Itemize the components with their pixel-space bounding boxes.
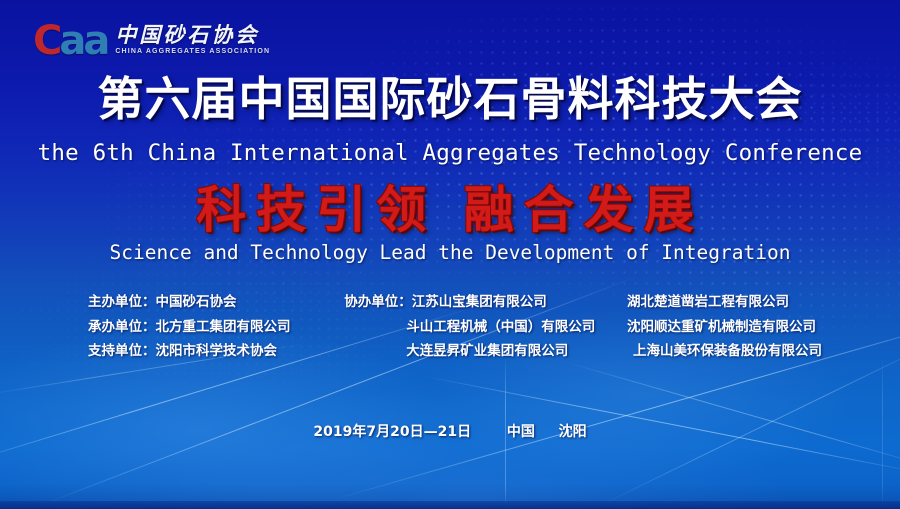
event-country: 中国 — [507, 424, 535, 440]
conference-title-chinese: 第六届中国国际砂石骨料科技大会 — [0, 73, 900, 126]
organizer-line: 主办单位：中国砂石协会 — [88, 295, 291, 311]
event-date: 2019年7月20日—21日 — [313, 424, 471, 440]
organizer-line: 上海山美环保装备股份有限公司 — [627, 344, 822, 360]
organizer-line: 湖北楚道凿岩工程有限公司 — [627, 295, 822, 311]
slogan-chinese: 科技引领 融合发展 — [0, 182, 900, 237]
organizer-line: 斗山工程机械（中国）有限公司 — [344, 320, 595, 336]
organizer-line: 承办单位：北方重工集团有限公司 — [88, 320, 291, 336]
organizer-block: 主办单位：中国砂石协会 承办单位：北方重工集团有限公司 支持单位：沈阳市科学技术… — [88, 295, 828, 360]
logo-english-name: CHINA AGGREGATES ASSOCIATION — [115, 48, 270, 55]
caa-logo-wordmark: 中国砂石协会 CHINA AGGREGATES ASSOCIATION — [115, 25, 270, 57]
caa-logo-mark: C aa — [33, 21, 107, 61]
conference-title-english: the 6th China International Aggregates T… — [0, 140, 900, 166]
bottom-band — [0, 501, 900, 509]
organizer-line: 大连昱昇矿业集团有限公司 — [344, 344, 595, 360]
organizer-column-middle: 协办单位：江苏山宝集团有限公司 斗山工程机械（中国）有限公司 大连昱昇矿业集团有… — [344, 295, 595, 360]
slogan-english: Science and Technology Lead the Developm… — [0, 241, 900, 264]
organizer-column-right: 湖北楚道凿岩工程有限公司 沈阳顺达重矿机械制造有限公司 上海山美环保装备股份有限… — [627, 295, 822, 360]
organizer-column-left: 主办单位：中国砂石协会 承办单位：北方重工集团有限公司 支持单位：沈阳市科学技术… — [88, 295, 291, 360]
caa-logo: C aa 中国砂石协会 CHINA AGGREGATES ASSOCIATION — [33, 20, 270, 62]
event-city: 沈阳 — [559, 424, 587, 440]
event-date-location: 2019年7月20日—21日 中国 沈阳 — [0, 421, 900, 441]
logo-letter-c: C — [33, 21, 59, 61]
organizer-line: 协办单位：江苏山宝集团有限公司 — [344, 295, 595, 311]
logo-chinese-name: 中国砂石协会 — [115, 25, 270, 46]
logo-letters-aa: aa — [59, 21, 107, 61]
organizer-line: 沈阳顺达重矿机械制造有限公司 — [627, 320, 822, 336]
organizer-line: 支持单位：沈阳市科学技术协会 — [88, 344, 291, 360]
conference-banner: C aa 中国砂石协会 CHINA AGGREGATES ASSOCIATION… — [0, 0, 900, 509]
